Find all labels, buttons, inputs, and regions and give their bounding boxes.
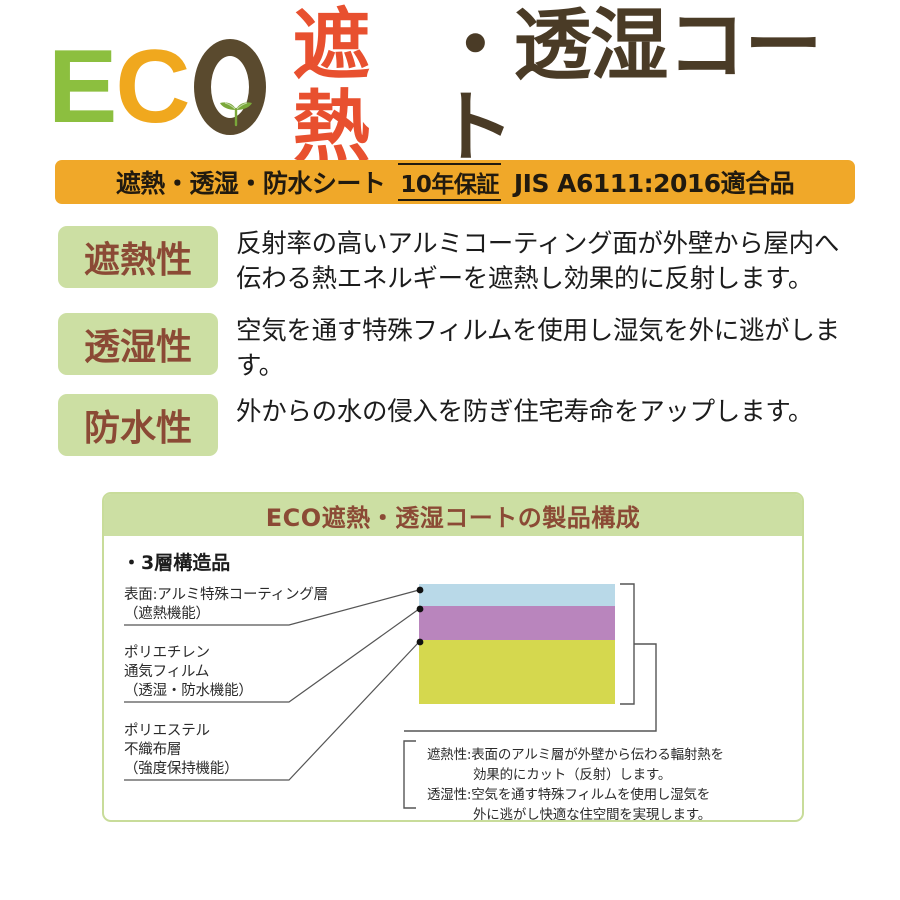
layer-block-polyester-nonwoven <box>419 640 615 704</box>
function-callout-box: 遮熱性:表面のアルミ層が外壁から伝わる輻射熱を 効果的にカット（反射）します。 … <box>427 745 782 822</box>
title-jp-brown: ・透湿コート <box>436 5 868 169</box>
callout-line-moisture-1: 透湿性:空気を通す特殊フィルムを使用し湿気を <box>427 785 782 805</box>
certification-banner-content: 遮熱・透湿・防水シート 10年保証 JIS A6111:2016適合品 <box>116 163 794 201</box>
feature-badge-moisture-permeability: 透湿性 <box>58 313 218 375</box>
layer-label-polyester-nonwoven: ポリエステル 不織布層 （強度保持機能） <box>124 722 238 779</box>
panel-body: ・3層構造品 表面:アルミ特殊コーティング層 （遮熱機能） ポリエチレン 通気フ… <box>104 536 802 820</box>
feature-row-waterproof: 防水性 外からの水の侵入を防ぎ住宅寿命をアップします。 <box>58 394 858 456</box>
feature-description-heat-shielding: 反射率の高いアルミコーティング面が外壁から屋内へ伝わる熱エネルギーを遮熱し効果的… <box>236 226 858 297</box>
sprout-icon <box>216 91 256 127</box>
product-title: E C 遮熱 ・透湿コート <box>48 28 868 146</box>
product-structure-panel: ECO遮熱・透湿コートの製品構成 ・3層構造品 表面:アルミ特殊コーティング層 … <box>102 492 804 822</box>
layer-stack-diagram <box>419 584 615 704</box>
certification-banner: 遮熱・透湿・防水シート 10年保証 JIS A6111:2016適合品 <box>55 160 855 204</box>
layer-label-aluminum-coating: 表面:アルミ特殊コーティング層 （遮熱機能） <box>124 586 328 624</box>
feature-badge-heat-shielding: 遮熱性 <box>58 226 218 288</box>
panel-header-title: ECO遮熱・透湿コートの製品構成 <box>104 494 802 536</box>
product-infographic: E C 遮熱 ・透湿コート 遮熱・透湿・防水シート 10年保証 JIS A611… <box>0 0 900 900</box>
feature-row-heat-shielding: 遮熱性 反射率の高いアルミコーティング面が外壁から屋内へ伝わる熱エネルギーを遮熱… <box>58 226 858 297</box>
banner-jis-standard: JIS A6111:2016適合品 <box>514 164 794 200</box>
eco-letter-e: E <box>48 35 115 139</box>
eco-letter-c: C <box>115 35 188 139</box>
banner-sheet-text: 遮熱・透湿・防水シート <box>116 164 386 200</box>
layer-label-polyethylene-film: ポリエチレン 通気フィルム （透湿・防水機能） <box>124 644 253 701</box>
callout-line-moisture-2: 外に逃がし快適な住空間を実現します。 <box>427 805 782 822</box>
feature-row-moisture-permeability: 透湿性 空気を通す特殊フィルムを使用し湿気を外に逃がします。 <box>58 313 858 384</box>
structure-subtitle: ・3層構造品 <box>122 548 230 575</box>
feature-description-waterproof: 外からの水の侵入を防ぎ住宅寿命をアップします。 <box>236 394 858 430</box>
feature-badge-waterproof: 防水性 <box>58 394 218 456</box>
callout-line-heat-2: 効果的にカット（反射）します。 <box>427 765 782 785</box>
layer-block-aluminum-coating <box>419 584 615 606</box>
feature-description-moisture-permeability: 空気を通す特殊フィルムを使用し湿気を外に逃がします。 <box>236 313 858 384</box>
callout-line-heat-1: 遮熱性:表面のアルミ層が外壁から伝わる輻射熱を <box>427 745 782 765</box>
layer-block-polyethylene-film <box>419 606 615 640</box>
title-jp-red: 遮熱 <box>292 5 436 169</box>
eco-letter-o <box>190 35 276 139</box>
banner-warranty-badge: 10年保証 <box>398 163 501 201</box>
